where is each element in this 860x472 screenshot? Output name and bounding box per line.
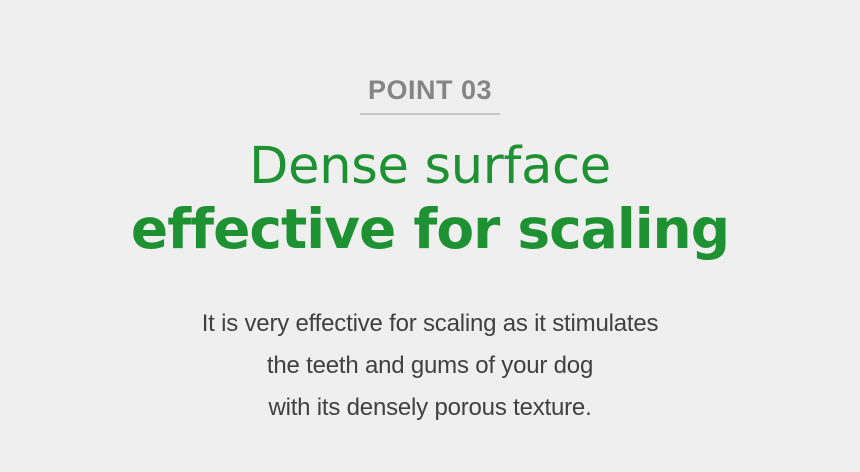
- body-line-2: the teeth and gums of your dog: [202, 345, 659, 387]
- eyebrow-block: POINT 03: [360, 74, 500, 115]
- eyebrow-divider: [360, 113, 500, 115]
- promo-slide: POINT 03 Dense surface effective for sca…: [0, 0, 860, 472]
- headline-line-2: effective for scaling: [131, 197, 729, 261]
- body-line-3: with its densely porous texture.: [202, 387, 659, 429]
- body-line-1: It is very effective for scaling as it s…: [202, 303, 659, 345]
- body-copy: It is very effective for scaling as it s…: [202, 303, 659, 429]
- headline: Dense surface effective for scaling: [131, 137, 729, 261]
- headline-line-1: Dense surface: [131, 137, 729, 197]
- point-label: POINT 03: [368, 74, 492, 106]
